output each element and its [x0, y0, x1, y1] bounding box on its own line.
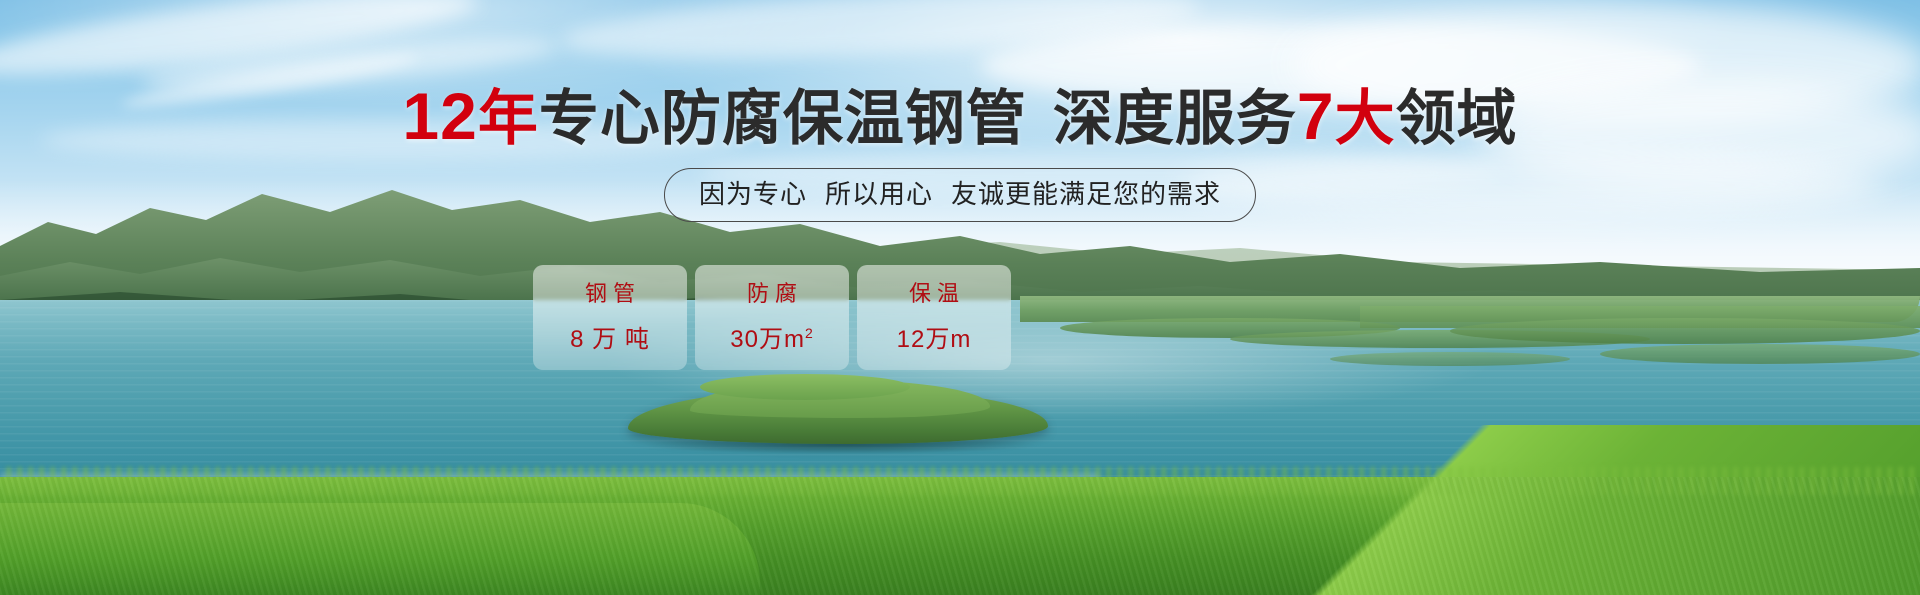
- grass-texture: [0, 477, 1920, 595]
- stat-card-steel-pipe[interactable]: 钢管 8 万 吨: [533, 265, 687, 370]
- headline-phrase-service: 深度服务: [1053, 85, 1297, 152]
- banner-headline: 12年专心防腐保温钢管深度服务7大领域: [0, 82, 1920, 153]
- hero-banner: 12年专心防腐保温钢管深度服务7大领域 因为专心所以用心友诚更能满足您的需求 钢…: [0, 0, 1920, 595]
- grass-island-tuft: [700, 374, 910, 400]
- stat-card-value: 8 万 吨: [570, 319, 650, 354]
- stat-card-value: 30万m2: [730, 319, 813, 354]
- subtitle-segment-1: 因为专心: [699, 179, 807, 209]
- stat-card-anticorrosion[interactable]: 防腐 30万m2: [695, 265, 849, 370]
- headline-phrase-fields: 领域: [1396, 85, 1518, 152]
- stat-card-insulation[interactable]: 保温 12万m: [857, 265, 1011, 370]
- subtitle-segment-3: 友诚更能满足您的需求: [951, 179, 1221, 209]
- banner-subtitle-pill: 因为专心所以用心友诚更能满足您的需求: [664, 168, 1256, 222]
- subtitle-segment-2: 所以用心: [825, 179, 933, 209]
- headline-phrase-main: 专心防腐保温钢管: [539, 85, 1027, 152]
- headline-years-number: 12: [402, 79, 477, 153]
- headline-years-unit: 年: [478, 85, 539, 152]
- headline-fields-unit: 大: [1335, 85, 1396, 152]
- stat-card-value-superscript: 2: [805, 325, 814, 341]
- stat-card-value-text: 12万m: [897, 326, 972, 353]
- stat-card-value-text: 8 万 吨: [570, 326, 650, 353]
- marsh-patch: [1450, 318, 1920, 344]
- stat-card-title: 保温: [903, 281, 965, 307]
- marsh-patch: [1600, 344, 1920, 364]
- stat-card-value: 12万m: [897, 319, 972, 354]
- stat-card-group: 钢管 8 万 吨 防腐 30万m2 保温 12万m: [533, 265, 1011, 370]
- headline-fields-number: 7: [1297, 79, 1335, 153]
- stat-card-title: 钢管: [579, 281, 641, 307]
- stat-card-title: 防腐: [741, 281, 803, 307]
- stat-card-value-text: 30万m: [730, 326, 805, 353]
- marsh-patch: [1330, 352, 1570, 366]
